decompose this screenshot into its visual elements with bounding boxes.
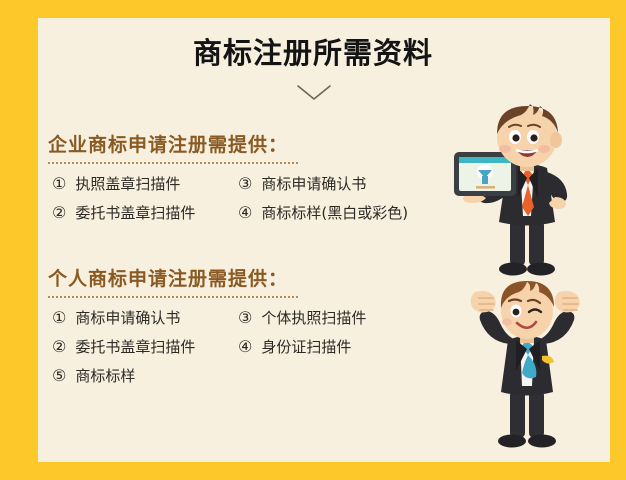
list-item: ① 执照盖章扫描件: [52, 176, 180, 192]
list-item: ① 商标申请确认书: [52, 310, 180, 326]
section-heading: 企业商标申请注册需提供：: [48, 134, 448, 157]
list-item-label: 商标申请确认书: [261, 177, 366, 192]
section-item-list: ① 商标申请确认书 ② 委托书盖章扫描件 ⑤ 商标标样 ③ 个体执照扫描件 ④ …: [48, 310, 448, 402]
section-enterprise: 企业商标申请注册需提供： ① 执照盖章扫描件 ② 委托书盖章扫描件 ③ 商标申请…: [48, 134, 448, 268]
section-individual: 个人商标申请注册需提供： ① 商标申请确认书 ② 委托书盖章扫描件 ⑤ 商标标样…: [48, 268, 448, 402]
list-item-number: ①: [52, 310, 66, 326]
list-item: ⑤ 商标标样: [52, 368, 135, 384]
list-item-number: ①: [52, 176, 66, 192]
list-item-label: 个体执照扫描件: [261, 311, 366, 326]
list-item-number: ③: [238, 176, 252, 192]
list-item-number: ②: [52, 339, 66, 355]
list-item: ④ 身份证扫描件: [238, 339, 351, 355]
list-item-label: 身份证扫描件: [261, 340, 351, 355]
poster-root: 商标注册所需资料 企业商标申请注册需提供： ① 执照盖章扫描件 ② 委托书盖章扫…: [0, 0, 626, 480]
businessman-with-tablet-illustration: [452, 104, 602, 286]
list-item-label: 商标标样: [75, 369, 135, 384]
list-item-number: ⑤: [52, 368, 66, 384]
list-item-label: 商标标样(黑白或彩色): [261, 206, 408, 221]
section-divider: [48, 296, 298, 298]
section-item-list: ① 执照盖章扫描件 ② 委托书盖章扫描件 ③ 商标申请确认书 ④ 商标标样(黑白…: [48, 176, 448, 268]
chevron-down-icon: [296, 84, 332, 102]
list-item: ④ 商标标样(黑白或彩色): [238, 205, 408, 221]
section-heading: 个人商标申请注册需提供：: [48, 268, 448, 291]
businessman-cheering-illustration: [452, 278, 602, 458]
list-item: ③ 个体执照扫描件: [238, 310, 366, 326]
list-item-number: ③: [238, 310, 252, 326]
list-item: ② 委托书盖章扫描件: [52, 339, 195, 355]
list-item-label: 委托书盖章扫描件: [75, 340, 195, 355]
list-item: ③ 商标申请确认书: [238, 176, 366, 192]
list-item-label: 执照盖章扫描件: [75, 177, 180, 192]
list-item: ② 委托书盖章扫描件: [52, 205, 195, 221]
list-item-number: ④: [238, 339, 252, 355]
list-item-number: ②: [52, 205, 66, 221]
list-item-number: ④: [238, 205, 252, 221]
list-item-label: 委托书盖章扫描件: [75, 206, 195, 221]
list-item-label: 商标申请确认书: [75, 311, 180, 326]
page-title: 商标注册所需资料: [38, 38, 588, 70]
section-divider: [48, 162, 298, 164]
